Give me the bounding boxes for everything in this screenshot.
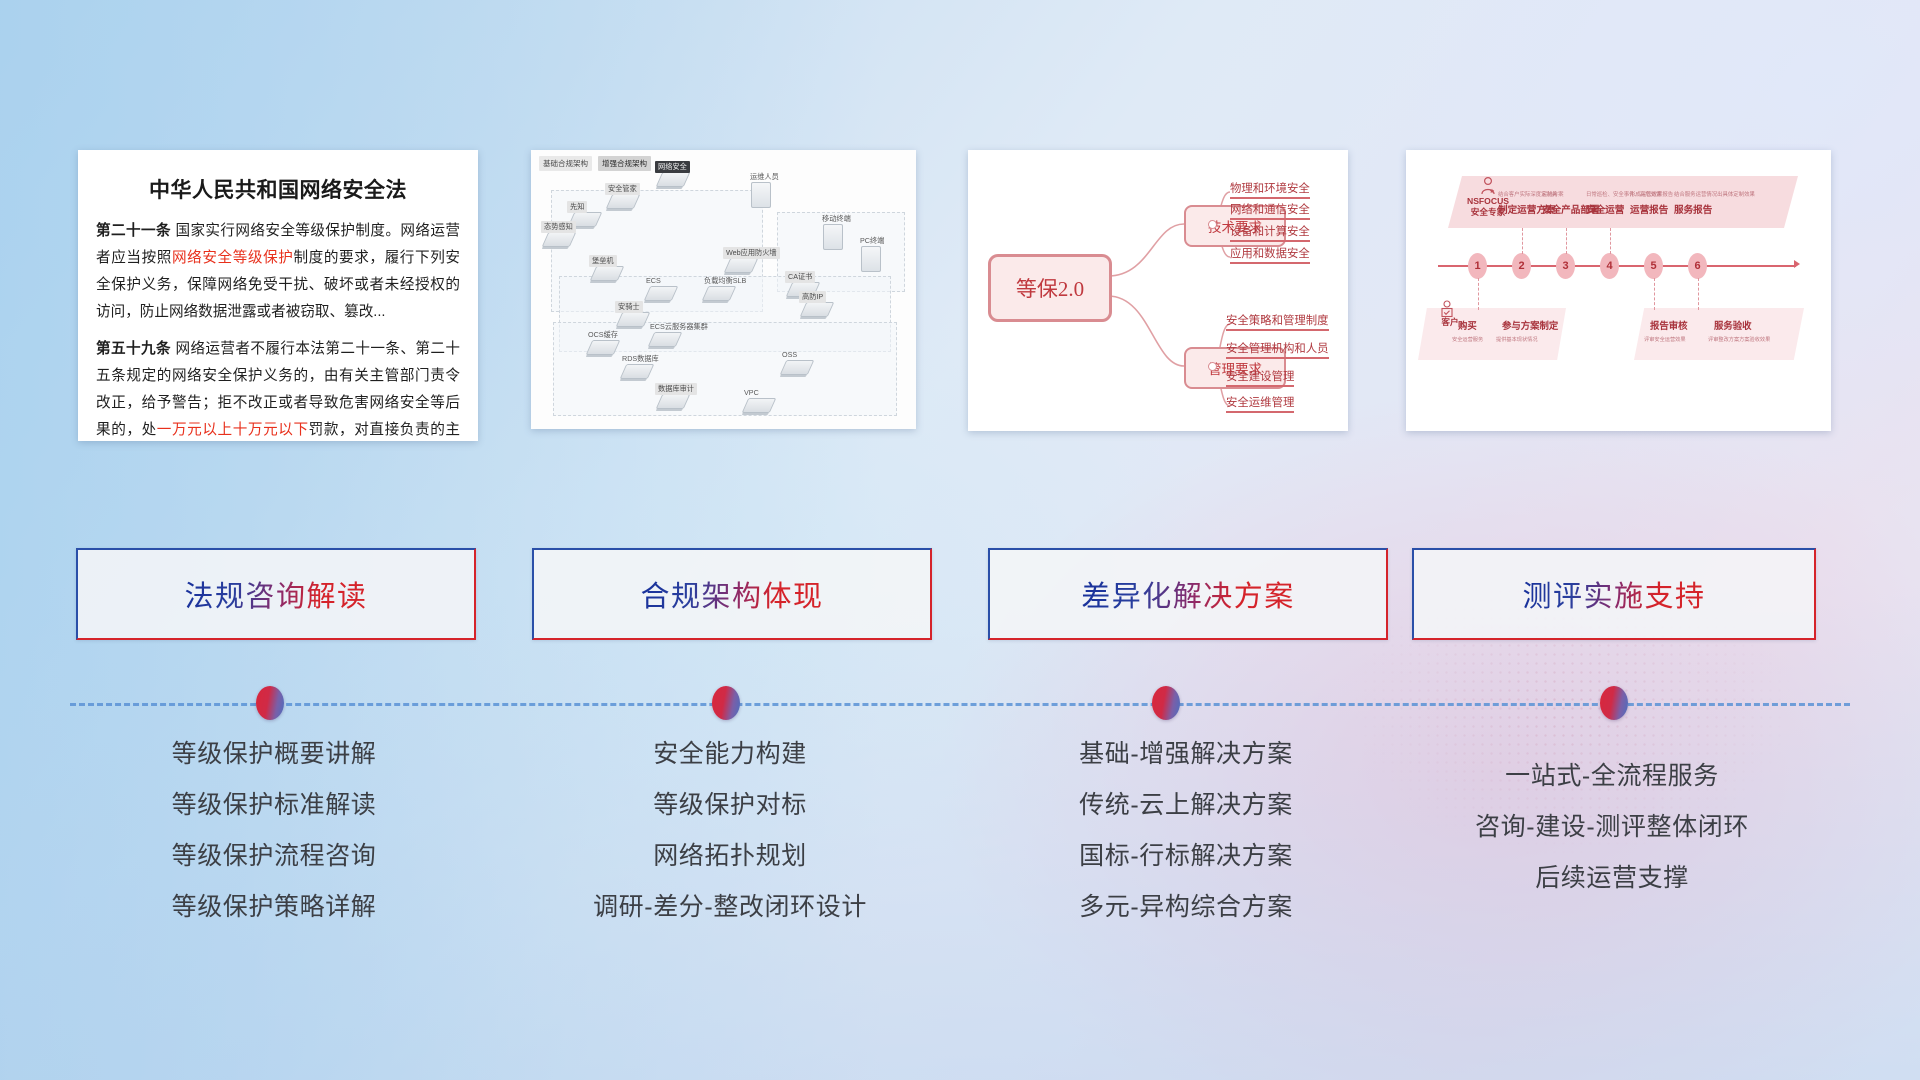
timeline-top-title: 服务报告 xyxy=(1674,202,1712,216)
architecture-node-label: 网络安全 xyxy=(655,161,690,173)
timeline-bottom-subtitle: 评审整改方案方案验收效果 xyxy=(1708,336,1770,343)
service-detail-columns: 等级保护概要讲解等级保护标准解读等级保护流程咨询等级保护策略详解 安全能力构建等… xyxy=(0,742,1920,972)
architecture-node[interactable]: 高防IP xyxy=(803,302,831,317)
cloud-node-icon xyxy=(542,232,577,247)
card-cloud-architecture[interactable]: 基础合规架构 增强合规架构 网络安全安全管家先知态势感知运维人员移动终端PC终端… xyxy=(531,150,916,429)
timeline-marker-3[interactable] xyxy=(1152,686,1180,720)
architecture-node[interactable]: 堡垒机 xyxy=(593,266,621,281)
service-list-column-1: 等级保护概要讲解等级保护标准解读等级保护流程咨询等级保护策略详解 xyxy=(76,742,472,920)
architecture-node-label: 运维人员 xyxy=(747,171,782,183)
mindmap-leaf[interactable]: 安全运维管理 xyxy=(1226,394,1294,413)
service-list-item: 调研-差分-整改闭环设计 xyxy=(512,895,948,920)
cloud-node-icon xyxy=(586,340,621,355)
card-cybersecurity-law[interactable]: 中华人民共和国网络安全法 第二十一条 国家实行网络安全等级保护制度。网络运营者应… xyxy=(78,150,478,441)
timeline-connector xyxy=(1478,278,1480,310)
architecture-node-label: 数据库审计 xyxy=(655,383,697,395)
cloud-node-icon xyxy=(616,312,651,327)
architecture-node-label: ECS云服务器集群 xyxy=(647,321,711,333)
cloud-node-icon xyxy=(656,394,691,409)
architecture-node-label: Web应用防火墙 xyxy=(723,247,780,259)
server-icon xyxy=(861,246,881,272)
service-list-item: 等级保护对标 xyxy=(512,793,948,818)
architecture-node[interactable]: Web应用防火墙 xyxy=(727,258,755,273)
architecture-node[interactable]: 负载均衡SLB xyxy=(705,286,733,301)
architecture-tab-group[interactable]: 基础合规架构 增强合规架构 xyxy=(539,156,651,171)
timeline-band-customer-right xyxy=(1634,308,1804,360)
architecture-node-label: 态势感知 xyxy=(541,221,576,233)
architecture-node[interactable]: 安全管家 xyxy=(609,194,637,209)
architecture-node[interactable]: OSS xyxy=(783,360,811,375)
section-label-box-2[interactable]: 合规架构体现 xyxy=(532,548,932,640)
timeline-bottom-title: 购买 xyxy=(1458,318,1477,332)
security-expert-icon xyxy=(1478,176,1498,196)
section-label-text: 差异化解决方案 xyxy=(1081,573,1295,615)
architecture-node-label: 安全管家 xyxy=(605,183,640,195)
timeline-step-marker[interactable]: 4 xyxy=(1600,253,1619,279)
cloud-node-icon xyxy=(648,332,683,347)
architecture-node[interactable]: ECS云服务器集群 xyxy=(651,332,679,347)
mindmap-root-node[interactable]: 等保2.0 xyxy=(988,254,1112,322)
service-list-item: 咨询-建设-测评整体闭环 xyxy=(1412,815,1812,840)
architecture-node-label: OCS缓存 xyxy=(585,329,621,341)
mindmap-leaf[interactable]: 物理和环境安全 xyxy=(1230,180,1310,199)
cloud-node-icon xyxy=(780,360,815,375)
timeline-arrow-icon xyxy=(1794,260,1800,268)
illustration-card-row: 中华人民共和国网络安全法 第二十一条 国家实行网络安全等级保护制度。网络运营者应… xyxy=(0,150,1920,448)
service-list-item: 等级保护概要讲解 xyxy=(76,742,472,767)
architecture-node-label: PC终端 xyxy=(857,235,887,247)
service-list-item: 传统-云上解决方案 xyxy=(968,793,1404,818)
timeline-step-marker[interactable]: 2 xyxy=(1512,253,1531,279)
timeline-marker-1[interactable] xyxy=(256,686,284,720)
service-list-column-2: 安全能力构建等级保护对标网络拓扑规划调研-差分-整改闭环设计 xyxy=(512,742,948,920)
service-list-item: 基础-增强解决方案 xyxy=(968,742,1404,767)
service-list-item: 一站式-全流程服务 xyxy=(1412,764,1812,789)
cloud-node-icon xyxy=(702,286,737,301)
architecture-node-label: 高防IP xyxy=(799,291,826,303)
timeline-top-subtitle: 实施方案 xyxy=(1542,190,1564,198)
service-list-item: 等级保护流程咨询 xyxy=(76,844,472,869)
architecture-node-label: 移动终端 xyxy=(819,213,854,225)
timeline-top-title: 安全运营 xyxy=(1586,202,1624,216)
server-icon xyxy=(823,224,843,250)
mindmap-collapse-icon-management[interactable] xyxy=(1208,362,1217,371)
architecture-node-label: OSS xyxy=(779,349,800,360)
mindmap-leaf[interactable]: 安全管理机构和人员 xyxy=(1226,340,1329,359)
mindmap-leaf[interactable]: 设备和计算安全 xyxy=(1230,223,1310,242)
timeline-bottom-subtitle: 评审安全运营效果 xyxy=(1644,336,1686,343)
cloud-architecture-diagram: 基础合规架构 增强合规架构 网络安全安全管家先知态势感知运维人员移动终端PC终端… xyxy=(531,150,916,429)
cloud-node-icon xyxy=(590,266,625,281)
architecture-node[interactable]: 数据库审计 xyxy=(659,394,687,409)
timeline-step-marker[interactable]: 6 xyxy=(1688,253,1707,279)
law-highlight-text: 一万元以上十万元以下 xyxy=(157,422,309,438)
architecture-node[interactable]: 安骑士 xyxy=(619,312,647,327)
law-title: 中华人民共和国网络安全法 xyxy=(96,174,460,204)
timeline-top-subtitle: 结合服务运营情况出具体定制效果 xyxy=(1674,190,1755,198)
card-dengbao-mindmap[interactable]: 等保2.0 技术要求 管理要求 物理和环境安全 网络和通信安全 设备和计算安全 … xyxy=(968,150,1348,431)
service-list-item: 等级保护策略详解 xyxy=(76,895,472,920)
timeline-bottom-title: 参与方案制定 xyxy=(1502,318,1558,332)
service-list-column-4: 一站式-全流程服务咨询-建设-测评整体闭环后续运营支撑 xyxy=(1412,764,1812,891)
architecture-node-label: RDS数据库 xyxy=(619,353,662,365)
service-list-item: 国标-行标解决方案 xyxy=(968,844,1404,869)
tab-basic-architecture[interactable]: 基础合规架构 xyxy=(539,156,592,171)
timeline-bottom-subtitle: 安全运营服务 xyxy=(1452,336,1483,343)
architecture-node[interactable]: 网络安全 xyxy=(659,172,687,187)
architecture-node[interactable]: ECS xyxy=(647,286,675,301)
section-label-box-3[interactable]: 差异化解决方案 xyxy=(988,548,1388,640)
law-highlight-text: 网络安全等级保护 xyxy=(172,250,294,266)
timeline-bottom-title: 服务验收 xyxy=(1714,318,1752,332)
timeline-top-subtitle: 形成运营效果报告 xyxy=(1630,190,1673,198)
architecture-node[interactable]: RDS数据库 xyxy=(623,364,651,379)
section-label-text: 法规咨询解读 xyxy=(184,573,367,615)
section-label-text: 合规架构体现 xyxy=(640,573,823,615)
timeline-bottom-title: 报告审核 xyxy=(1650,318,1688,332)
timeline-dashed-line xyxy=(70,703,1850,706)
mindmap-leaf[interactable]: 应用和数据安全 xyxy=(1230,245,1310,264)
server-icon xyxy=(751,182,771,208)
law-document: 中华人民共和国网络安全法 第二十一条 国家实行网络安全等级保护制度。网络运营者应… xyxy=(78,150,478,441)
cloud-node-icon xyxy=(742,398,777,413)
architecture-node[interactable]: OCS缓存 xyxy=(589,340,617,355)
law-paragraph-21: 第二十一条 国家实行网络安全等级保护制度。网络运营者应当按照网络安全等级保护制度… xyxy=(96,218,460,327)
architecture-node[interactable]: VPC xyxy=(745,398,773,413)
architecture-node-label: 安骑士 xyxy=(615,301,643,313)
cloud-node-icon xyxy=(644,286,679,301)
architecture-node[interactable]: 态势感知 xyxy=(545,232,573,247)
timeline-step-marker[interactable]: 5 xyxy=(1644,253,1663,279)
section-label-box-1[interactable]: 法规咨询解读 xyxy=(76,548,476,640)
section-label-box-4[interactable]: 测评实施支持 xyxy=(1412,548,1816,640)
mindmap-collapse-icon-technical[interactable] xyxy=(1208,220,1217,229)
section-label-row: 法规咨询解读 合规架构体现 差异化解决方案 测评实施支持 xyxy=(0,548,1920,644)
service-list-item: 网络拓扑规划 xyxy=(512,844,948,869)
architecture-node-label: ECS xyxy=(643,275,664,286)
timeline-step-marker[interactable]: 1 xyxy=(1468,253,1487,279)
card-nsfocus-timeline[interactable]: NSFOCUS 安全专家 客户 123456制定运营方案结合客户实际深度定制具安… xyxy=(1406,150,1831,431)
architecture-node[interactable]: PC终端 xyxy=(861,246,881,272)
tab-enhanced-architecture[interactable]: 增强合规架构 xyxy=(598,156,651,171)
law-paragraph-59: 第五十九条 网络运营者不履行本法第二十一条、第二十五条规定的网络安全保护义务的，… xyxy=(96,336,460,441)
nsfocus-service-timeline: NSFOCUS 安全专家 客户 123456制定运营方案结合客户实际深度定制具安… xyxy=(1406,150,1831,431)
timeline-connector xyxy=(1522,228,1524,254)
progress-timeline xyxy=(0,694,1920,714)
cloud-node-icon xyxy=(656,172,691,187)
service-list-item: 后续运营支撑 xyxy=(1412,866,1812,891)
timeline-bottom-subtitle: 提供基本现状情况 xyxy=(1496,336,1538,343)
law-article-number: 第二十一条 xyxy=(96,223,171,239)
architecture-node-label: 堡垒机 xyxy=(589,255,617,267)
architecture-node-label: VPC xyxy=(741,387,762,398)
cloud-node-icon xyxy=(800,302,835,317)
timeline-connector xyxy=(1698,278,1700,310)
cloud-node-icon xyxy=(606,194,641,209)
mindmap-leaf[interactable]: 安全策略和管理制度 xyxy=(1226,312,1329,331)
architecture-node[interactable]: 运维人员 xyxy=(751,182,771,208)
timeline-connector xyxy=(1610,228,1612,254)
service-list-item: 安全能力构建 xyxy=(512,742,948,767)
architecture-node-label: CA证书 xyxy=(785,271,815,283)
section-label-text: 测评实施支持 xyxy=(1522,573,1705,615)
service-list-item: 多元-异构综合方案 xyxy=(968,895,1404,920)
architecture-node-label: 负载均衡SLB xyxy=(701,275,749,287)
timeline-step-marker[interactable]: 3 xyxy=(1556,253,1575,279)
timeline-top-title: 运营报告 xyxy=(1630,202,1668,216)
mindmap-leaf[interactable]: 网络和通信安全 xyxy=(1230,201,1310,220)
cloud-node-icon xyxy=(724,258,759,273)
mindmap-leaf[interactable]: 安全建设管理 xyxy=(1226,368,1294,387)
cloud-node-icon xyxy=(620,364,655,379)
timeline-marker-2[interactable] xyxy=(712,686,740,720)
dengbao-mindmap: 等保2.0 技术要求 管理要求 物理和环境安全 网络和通信安全 设备和计算安全 … xyxy=(968,150,1348,431)
architecture-node[interactable]: 移动终端 xyxy=(823,224,843,250)
architecture-node-label: 先知 xyxy=(567,201,587,213)
law-article-number: 第五十九条 xyxy=(96,341,171,357)
service-list-item: 等级保护标准解读 xyxy=(76,793,472,818)
timeline-marker-4[interactable] xyxy=(1600,686,1628,720)
timeline-connector xyxy=(1654,278,1656,310)
timeline-connector xyxy=(1566,228,1568,254)
service-list-column-3: 基础-增强解决方案传统-云上解决方案国标-行标解决方案多元-异构综合方案 xyxy=(968,742,1404,920)
